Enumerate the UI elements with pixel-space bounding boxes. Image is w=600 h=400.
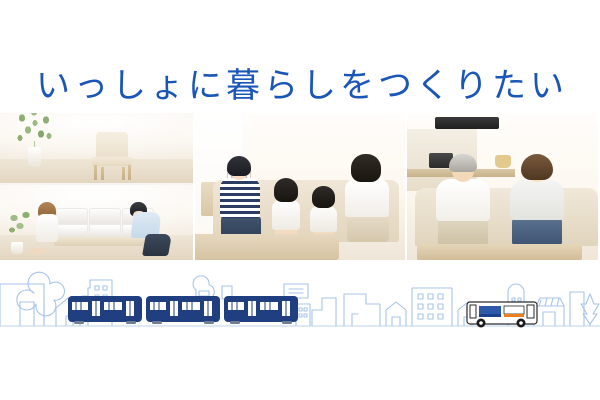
chair-leg: [128, 165, 131, 180]
train-window: [104, 302, 122, 310]
older-daughter-top: [272, 200, 300, 230]
bus-front-door: [470, 305, 476, 318]
train-bogie: [204, 321, 214, 324]
bus-window-blue: [479, 306, 501, 314]
sofa-cushion: [89, 224, 121, 238]
air-conditioner: [435, 117, 499, 129]
coffee-table: [195, 234, 339, 260]
bus-stripe-orange: [504, 314, 524, 317]
window-icon: [438, 294, 443, 299]
younger-daughter-hair: [312, 186, 335, 208]
bus-window: [504, 306, 524, 314]
shop-door-icon: [543, 312, 555, 326]
window-icon: [418, 304, 423, 309]
plant-pot: [28, 147, 41, 167]
grandfather-shirt: [436, 179, 490, 221]
page-title: いっしょに暮らしをつくりたい: [32, 69, 568, 103]
chair-leg: [122, 167, 125, 180]
photo-strip: 白い部屋の椅子と観葉植物: [0, 113, 600, 260]
train-window: [260, 302, 278, 310]
headline-container: いっしょに暮らしをつくりたい: [0, 60, 600, 112]
building-icon: [0, 284, 44, 326]
train-window: [182, 302, 200, 310]
bus-hubcap: [479, 321, 483, 325]
window-icon: [428, 314, 433, 319]
signboard-icon: [284, 284, 308, 298]
photo-couple-sofa: ソファを運ぶ男女: [0, 185, 193, 260]
plant-foliage: [8, 212, 34, 246]
father-hair: [227, 156, 251, 176]
sofa-cushion: [56, 224, 88, 238]
window-icon: [512, 298, 515, 301]
window-icon: [304, 308, 307, 311]
photo-senior-couple: ソファに座るシニア夫婦: [407, 113, 598, 260]
cityscape-illustration: [0, 262, 600, 334]
sign-panel-icon: [199, 291, 209, 296]
house-door-icon: [392, 317, 400, 326]
building-detail-icon: [352, 314, 358, 326]
tree-icon: [17, 272, 65, 316]
grandmother-jeans: [512, 218, 562, 246]
train-window: [150, 302, 166, 310]
person-grandfather: [435, 154, 491, 246]
train-window: [228, 302, 244, 310]
bus-hubcap: [519, 321, 523, 325]
photo-column-right: ソファに座るシニア夫婦: [407, 113, 598, 260]
bus-rear-door: [527, 305, 534, 318]
bus-stripe-blue: [479, 314, 501, 317]
train-window: [72, 302, 88, 310]
window-icon: [95, 286, 99, 290]
chair-backrest: [96, 132, 128, 158]
younger-daughter-top: [310, 206, 337, 232]
sign-text-icon: [289, 289, 303, 293]
father-striped-shirt: [220, 178, 260, 218]
shop-icon: [534, 306, 564, 326]
train-bogie: [74, 321, 84, 324]
person-father: [217, 156, 263, 242]
photo-family-four: ソファに座る4人家族: [195, 113, 405, 260]
person-younger-daughter: [307, 176, 341, 242]
older-daughter-hair: [274, 178, 298, 202]
window-icon: [418, 314, 423, 319]
window-icon: [438, 314, 443, 319]
cloud-sign-icon: [193, 276, 214, 297]
train-car: [146, 296, 220, 324]
plant-pot: [11, 242, 23, 254]
promotional-banner: いっしょに暮らしをつくりたい 白い部屋の椅子と観葉植物: [0, 0, 600, 400]
window-icon: [418, 294, 423, 299]
window-icon: [304, 314, 307, 317]
chair-leg: [101, 167, 104, 180]
train-bogie: [230, 321, 240, 324]
bus-illustration: [467, 302, 537, 328]
woman-legs: [30, 248, 46, 254]
window-icon: [299, 308, 302, 311]
train-bogie: [282, 321, 292, 324]
sofa-frame: [54, 237, 156, 246]
photo-column-middle: ソファに座る4人家族: [195, 113, 405, 260]
chair-leg: [94, 165, 97, 180]
grandmother-hair: [521, 154, 553, 180]
building-icon: [312, 298, 336, 326]
train-bogie: [126, 321, 136, 324]
chair-seat: [92, 157, 132, 166]
window-icon: [438, 304, 443, 309]
plant-foliage: [14, 113, 56, 150]
woman-body: [36, 214, 58, 242]
mother-pants: [347, 215, 389, 242]
building-icon: [570, 292, 584, 326]
person-grandmother: [509, 154, 565, 246]
grandfather-trousers: [438, 219, 488, 246]
photo-column-left: 白い部屋の椅子と観葉植物: [0, 113, 193, 260]
awning-stripes-icon: [539, 298, 559, 306]
window-icon: [428, 304, 433, 309]
train-car: [224, 296, 298, 324]
train-car: [68, 296, 142, 324]
coffee-table: [417, 244, 582, 260]
person-older-daughter: [269, 170, 303, 242]
window-icon: [103, 286, 107, 290]
person-mother: [343, 154, 391, 242]
mother-hair: [351, 154, 381, 182]
window-icon: [518, 298, 521, 301]
window-icon: [428, 294, 433, 299]
window-icon: [299, 314, 302, 317]
grandfather-hair: [449, 154, 477, 172]
building-icon: [296, 304, 310, 326]
photo-chair-room: 白い部屋の椅子と観葉植物: [0, 113, 193, 183]
grandmother-sweater: [510, 180, 564, 220]
mother-blouse: [345, 179, 389, 217]
man-legs: [142, 234, 172, 256]
house-icon: [386, 302, 406, 326]
train-illustration: [68, 296, 298, 324]
building-icon: [344, 294, 380, 326]
train-bogie: [152, 321, 162, 324]
